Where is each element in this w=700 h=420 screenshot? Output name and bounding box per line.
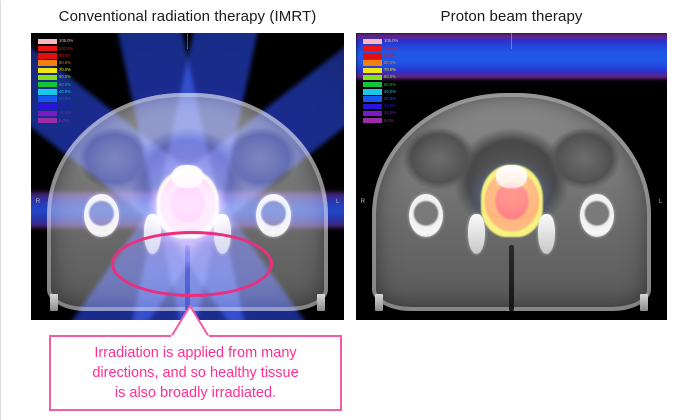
legend-color-swatch xyxy=(363,75,382,80)
femoral-head-left xyxy=(580,194,614,237)
legend-label: 100.0% xyxy=(384,47,398,51)
legend-label: 20.0% xyxy=(59,104,71,108)
legend-color-swatch xyxy=(363,53,382,58)
legend-color-swatch xyxy=(38,111,57,116)
legend-color-swatch xyxy=(363,104,382,109)
legend-label: 60.0% xyxy=(59,75,71,79)
isodose-core-imrt xyxy=(156,169,219,238)
legend-row: 5.0% xyxy=(38,117,73,124)
legend-label: 70.0% xyxy=(59,68,71,72)
legend-color-swatch xyxy=(38,89,57,94)
legend-color-swatch xyxy=(38,46,57,51)
low-dose-region-highlight-ellipse xyxy=(111,231,273,297)
legend-color-swatch xyxy=(38,96,57,101)
legend-color-swatch xyxy=(363,118,382,123)
isodose-legend-imrt: 105.0%100.0%90.0%80.0%70.0%60.0%50.0%40.… xyxy=(35,36,75,126)
legend-label: 80.0% xyxy=(384,61,396,65)
legend-label: 50.0% xyxy=(384,83,396,87)
legend-row: 30.0% xyxy=(38,96,73,103)
legend-color-swatch xyxy=(363,60,382,65)
legend-color-swatch xyxy=(38,53,57,58)
panel-title-proton: Proton beam therapy xyxy=(356,8,667,25)
legend-label: 90.0% xyxy=(384,54,396,58)
orientation-label-right: R xyxy=(361,199,365,205)
legend-row: 50.0% xyxy=(363,81,398,88)
legend-label: 5.0% xyxy=(59,119,69,123)
legend-row: 60.0% xyxy=(38,74,73,81)
legend-label: 10.0% xyxy=(384,111,396,115)
legend-row: 70.0% xyxy=(363,67,398,74)
legend-row: 5.0% xyxy=(363,117,398,124)
legend-color-swatch xyxy=(38,39,57,44)
legend-row: 105.0% xyxy=(363,38,398,45)
callout-box: Irradiation is applied from many directi… xyxy=(49,335,342,411)
legend-row: 40.0% xyxy=(363,88,398,95)
legend-label: 50.0% xyxy=(59,83,71,87)
legend-label: 20.0% xyxy=(384,104,396,108)
legend-color-swatch xyxy=(38,75,57,80)
laser-marker-top xyxy=(187,33,188,49)
radiation-therapy-comparison-figure: Conventional radiation therapy (IMRT) Pr… xyxy=(0,0,700,420)
gluteal-cleft xyxy=(509,245,514,311)
legend-row: 90.0% xyxy=(363,52,398,59)
legend-row: 70.0% xyxy=(38,67,73,74)
legend-row: 105.0% xyxy=(38,38,73,45)
legend-color-swatch xyxy=(363,68,382,73)
legend-row: 20.0% xyxy=(38,103,73,110)
legend-color-swatch xyxy=(363,111,382,116)
isodose-core-proton xyxy=(480,165,542,237)
legend-color-swatch xyxy=(38,104,57,109)
table-marker-right xyxy=(317,294,325,311)
orientation-label-right: R xyxy=(36,199,40,205)
panel-title-imrt: Conventional radiation therapy (IMRT) xyxy=(31,8,344,25)
legend-row: 40.0% xyxy=(38,88,73,95)
ct-image-proton: R L xyxy=(356,33,667,320)
legend-row: 100.0% xyxy=(363,45,398,52)
legend-row: 50.0% xyxy=(38,81,73,88)
legend-label: 60.0% xyxy=(384,75,396,79)
table-marker-left xyxy=(375,294,383,311)
legend-label: 30.0% xyxy=(59,97,71,101)
legend-row: 80.0% xyxy=(38,60,73,67)
table-marker-right xyxy=(640,294,648,311)
proton-lateral-beam-band xyxy=(356,33,667,79)
legend-row: 20.0% xyxy=(363,103,398,110)
legend-row: 60.0% xyxy=(363,74,398,81)
legend-label: 40.0% xyxy=(59,90,71,94)
legend-color-swatch xyxy=(38,82,57,87)
legend-label: 105.0% xyxy=(384,39,398,43)
legend-color-swatch xyxy=(363,39,382,44)
legend-label: 30.0% xyxy=(384,97,396,101)
legend-label: 105.0% xyxy=(59,39,73,43)
legend-color-swatch xyxy=(38,118,57,123)
orientation-label-left: L xyxy=(659,199,662,205)
orientation-label-left: L xyxy=(336,199,339,205)
legend-row: 100.0% xyxy=(38,45,73,52)
legend-color-swatch xyxy=(363,89,382,94)
legend-row: 10.0% xyxy=(38,110,73,117)
legend-label: 70.0% xyxy=(384,68,396,72)
callout-pointer xyxy=(169,304,213,337)
legend-color-swatch xyxy=(363,82,382,87)
legend-color-swatch xyxy=(38,68,57,73)
legend-color-swatch xyxy=(363,46,382,51)
femoral-head-right xyxy=(409,194,443,237)
legend-label: 5.0% xyxy=(384,119,394,123)
legend-label: 40.0% xyxy=(384,90,396,94)
legend-label: 10.0% xyxy=(59,111,71,115)
legend-label: 100.0% xyxy=(59,47,73,51)
legend-row: 30.0% xyxy=(363,96,398,103)
legend-label: 80.0% xyxy=(59,61,71,65)
callout-text: Irradiation is applied from many directi… xyxy=(86,343,304,403)
ct-panel-proton: R L 105.0%100.0%90.0%80.0%70.0%60.0%50.0… xyxy=(356,33,667,320)
legend-row: 90.0% xyxy=(38,52,73,59)
isodose-legend-proton: 105.0%100.0%90.0%80.0%70.0%60.0%50.0%40.… xyxy=(360,36,400,126)
legend-color-swatch xyxy=(363,96,382,101)
table-marker-left xyxy=(50,294,58,311)
legend-color-swatch xyxy=(38,60,57,65)
legend-row: 10.0% xyxy=(363,110,398,117)
legend-row: 80.0% xyxy=(363,60,398,67)
legend-label: 90.0% xyxy=(59,54,71,58)
